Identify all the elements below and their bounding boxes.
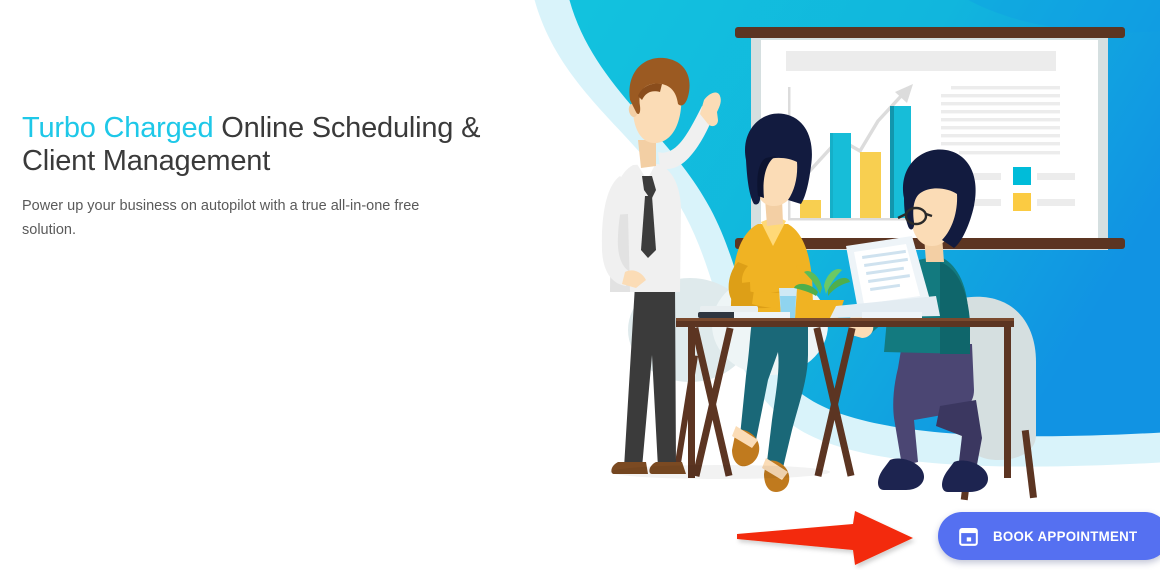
book-appointment-button[interactable]: BOOK APPOINTMENT <box>938 512 1160 560</box>
board-title-placeholder <box>786 51 1056 71</box>
red-arrow-annotation <box>735 508 935 570</box>
headline-accent: Turbo Charged <box>22 112 213 144</box>
page-subtitle: Power up your business on autopilot with… <box>22 194 474 242</box>
chart-x-axis <box>788 218 920 221</box>
book-appointment-label: BOOK APPOINTMENT <box>993 528 1137 544</box>
chart-bar-3 <box>860 152 881 218</box>
chart-bar-1 <box>800 200 821 218</box>
page-title: Turbo Charged Online Scheduling & Client… <box>22 112 492 178</box>
hero-copy: Turbo Charged Online Scheduling & Client… <box>22 112 492 242</box>
board-text-lines <box>941 86 1060 154</box>
calendar-icon <box>958 526 979 547</box>
hero-illustration <box>470 0 1160 582</box>
arrow-shape <box>737 511 913 565</box>
chart-bar-2 <box>830 133 851 218</box>
hero-section: Turbo Charged Online Scheduling & Client… <box>0 0 1160 582</box>
